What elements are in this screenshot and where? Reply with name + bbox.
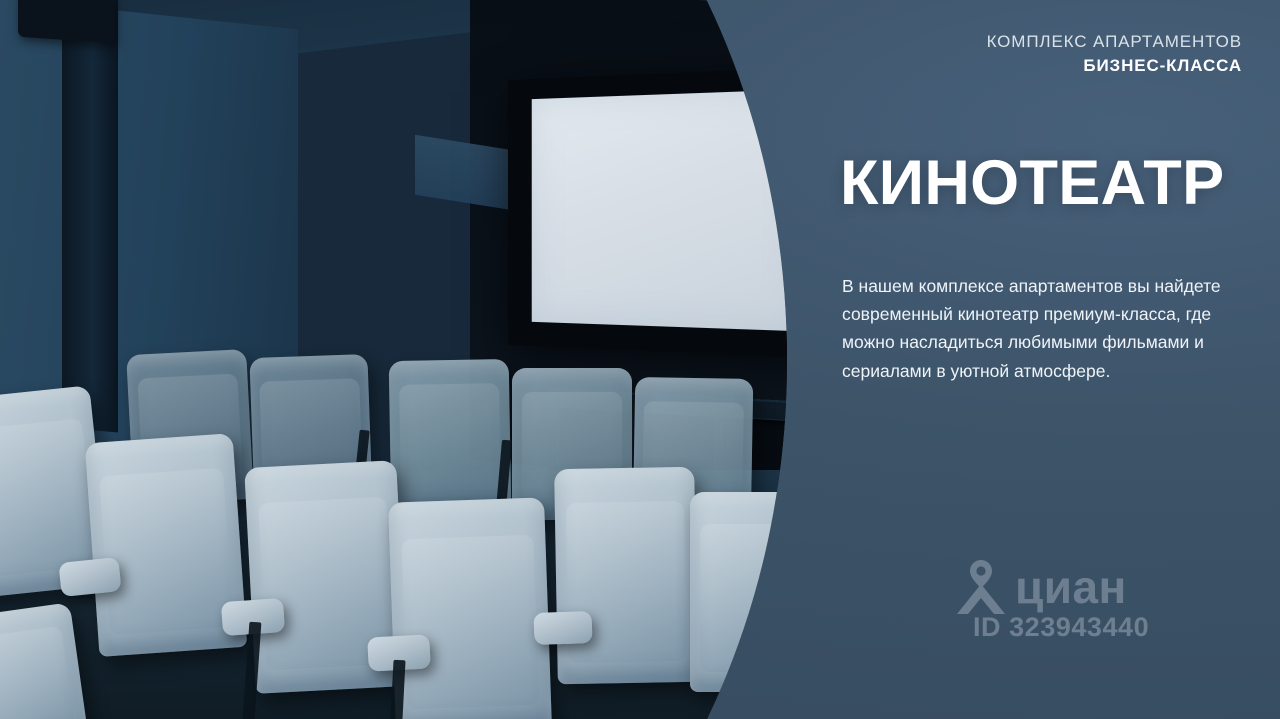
page-title: КИНОТЕАТР (840, 150, 1224, 216)
cinema-photo-clip (0, 0, 790, 719)
seat-armrest (533, 611, 592, 645)
projection-screen (508, 67, 790, 358)
seat-armrest (58, 557, 121, 597)
column-head (18, 0, 114, 43)
projection-screen-surface (532, 89, 790, 331)
wall-column-speaker (62, 0, 118, 432)
cinema-seat (554, 467, 698, 684)
cinema-seat (389, 359, 512, 513)
eyebrow-line-1: КОМПЛЕКС АПАРТАМЕНТОВ (987, 30, 1242, 54)
promo-slide: КОМПЛЕКС АПАРТАМЕНТОВ БИЗНЕС-КЛАССА КИНО… (0, 0, 1280, 719)
cinema-seat (388, 497, 552, 719)
description-text: В нашем комплексе апартаментов вы найдет… (842, 272, 1246, 385)
eyebrow-heading: КОМПЛЕКС АПАРТАМЕНТОВ БИЗНЕС-КЛАССА (987, 30, 1242, 78)
eyebrow-line-2: БИЗНЕС-КЛАССА (987, 54, 1242, 78)
cinema-photo (0, 0, 790, 719)
